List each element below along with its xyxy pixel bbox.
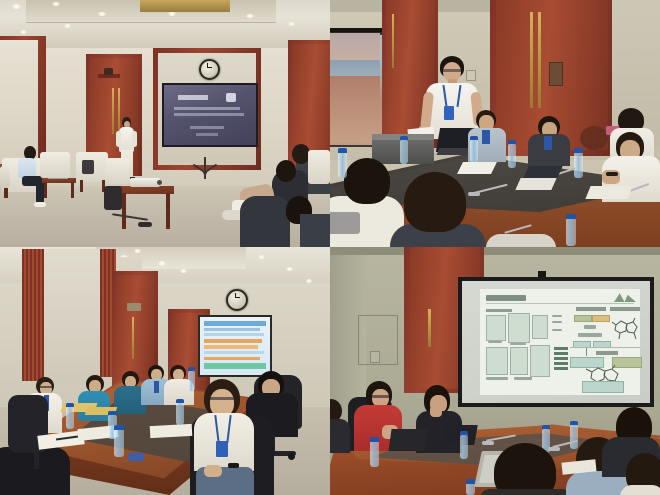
fragment-value: [578, 333, 602, 337]
diagram-box: [510, 347, 528, 375]
wall-switch[interactable]: [370, 351, 380, 363]
wall-recess-left-inner: [0, 40, 38, 164]
water-bottle[interactable]: [508, 144, 516, 168]
bottle-cap: [114, 425, 124, 430]
ceiling-light: [64, 24, 71, 28]
panelist-torso: [330, 419, 350, 453]
bottle-cap: [570, 421, 578, 425]
projector: [130, 178, 160, 187]
attendee-glasses: [40, 386, 52, 388]
foreground-attendee: [300, 214, 330, 247]
column-header-molecular-graph: [610, 307, 640, 311]
diagram-label: [514, 377, 532, 380]
bottle-cap: [508, 140, 516, 144]
attendee-lanyard: [544, 136, 552, 150]
attendee-head: [344, 158, 390, 204]
slide-row-highlight: [204, 357, 260, 360]
ceiling-light: [286, 267, 293, 271]
ceiling-light: [246, 14, 254, 18]
slide-date-text: [196, 133, 218, 136]
water-bottle[interactable]: [574, 152, 583, 178]
attendee-head: [494, 443, 556, 495]
attendee-shoe: [34, 202, 46, 207]
attendee-torso: [620, 485, 660, 495]
door-handle[interactable]: [530, 12, 533, 108]
badge: [444, 106, 454, 120]
slide-author-text: [190, 126, 224, 129]
chair-wheel: [288, 453, 295, 460]
photo-collage: Seminar room: a presenter in a white shi…: [0, 0, 660, 495]
water-bottle[interactable]: [566, 218, 576, 246]
caption-box: [582, 381, 624, 393]
bottle-cap: [400, 136, 408, 140]
diagram-label: [486, 377, 508, 380]
clock-hand: [207, 67, 212, 68]
panel-bottom-left: Attendees seated along a large wooden co…: [0, 247, 330, 495]
wall-clock: [199, 59, 220, 80]
bottle-cap: [66, 403, 74, 407]
badge: [216, 441, 228, 457]
ceiling-light: [12, 4, 21, 9]
notepad: [585, 186, 632, 199]
diagram-label: [488, 341, 502, 343]
slide-row: [204, 328, 260, 331]
ceiling-light: [158, 261, 166, 266]
wall-slat-panel: [22, 249, 44, 381]
slide-title: [486, 295, 526, 301]
attendee-torso: [18, 158, 36, 178]
microphone-base: [548, 447, 560, 451]
attendee-lanyard: [154, 381, 159, 393]
ceiling-light: [306, 279, 312, 283]
wristwatch: [606, 172, 618, 176]
door-handle[interactable]: [392, 14, 394, 68]
water-bottle[interactable]: [460, 435, 468, 459]
diagram-box: [530, 345, 550, 377]
panel-bottom-right: A large tripod projection screen display…: [330, 247, 660, 495]
slide-subheading: [486, 309, 512, 312]
notepad: [515, 178, 556, 190]
bottle-cap: [466, 479, 475, 484]
water-bottle[interactable]: [370, 441, 379, 467]
ceiling-light: [134, 249, 141, 253]
paper-sheet: [150, 424, 193, 438]
slide-logo: [226, 93, 236, 102]
column-header-integrate: [596, 351, 618, 355]
score-bar: [554, 362, 568, 365]
door-handle[interactable]: [428, 309, 431, 347]
panel-top-left: Seminar room: a presenter in a white shi…: [0, 0, 330, 247]
slide-row-highlight: [204, 345, 258, 349]
presenter-arm: [132, 131, 137, 147]
attendee-torso: [480, 489, 572, 495]
water-bottle[interactable]: [400, 140, 408, 164]
sofa-leg: [4, 188, 8, 198]
panelist-glasses: [372, 395, 389, 398]
armchair: [40, 152, 70, 178]
bottle-cap: [574, 148, 583, 153]
fragment-value: [584, 325, 596, 329]
projector-lens: [157, 180, 162, 185]
slide-title-text: [178, 95, 208, 100]
bottle-cap: [370, 437, 379, 442]
attendee-head: [404, 172, 466, 232]
bottle-cap: [460, 431, 468, 435]
door-sign: [127, 303, 141, 311]
door-handle[interactable]: [538, 12, 541, 108]
table-leg: [71, 182, 74, 198]
ceiling-light: [98, 12, 106, 16]
water-bottle[interactable]: [66, 407, 74, 429]
slide-title-underline: [486, 303, 634, 304]
ceiling-gold-inlay: [140, 0, 230, 12]
bottle-cap: [108, 411, 117, 415]
water-bottle[interactable]: [338, 152, 347, 178]
water-bottle[interactable]: [570, 425, 578, 449]
table-leg: [44, 182, 47, 198]
integrate-arrow: [586, 348, 587, 356]
slide-subtitle-text: [174, 113, 244, 116]
cup[interactable]: [128, 453, 144, 461]
laptop[interactable]: [388, 429, 427, 451]
water-bottle[interactable]: [470, 140, 478, 162]
attendee-head: [276, 160, 296, 182]
slide-subtitle-text: [174, 107, 240, 110]
slide-divider: [570, 347, 640, 348]
score-bar: [554, 367, 568, 370]
score-label: [552, 321, 562, 323]
slide-header-row: [204, 321, 266, 326]
microphone-base: [482, 441, 494, 445]
water-bottle[interactable]: [466, 483, 475, 495]
screen-roller-bar: [330, 28, 382, 32]
water-bottle[interactable]: [176, 403, 184, 425]
diagram-box: [532, 315, 548, 339]
slide-row: [204, 351, 264, 354]
bottle-cap: [542, 425, 550, 429]
attendee-lanyard: [482, 130, 490, 144]
ceiling-light: [180, 269, 187, 273]
score-label: [552, 315, 562, 317]
door-handle[interactable]: [132, 317, 134, 359]
chair-post: [34, 451, 39, 469]
diagram-box: [486, 347, 508, 375]
score-label: [552, 329, 562, 331]
door-sign: [549, 62, 563, 86]
diagram-box: [486, 315, 506, 341]
bottle-cap: [470, 136, 478, 140]
attendee-shin: [36, 182, 44, 204]
bottle-cap: [176, 399, 184, 403]
panelist-hand: [430, 405, 442, 417]
column-header-fragments: [576, 307, 606, 311]
table-leg: [122, 193, 126, 229]
clock-hand: [235, 297, 240, 298]
wristwatch: [228, 463, 239, 468]
bottle-cap: [188, 367, 195, 371]
wall-speaker: [580, 126, 608, 150]
table-leg: [166, 193, 170, 229]
ceiling-light: [20, 30, 27, 34]
door-handle[interactable]: [118, 88, 120, 134]
panel-top-right: A young man in a white T-shirt with a bl…: [330, 0, 660, 247]
presenter-glasses: [443, 69, 461, 72]
shelf-ornament: [104, 68, 113, 75]
armchair-leg: [80, 180, 83, 192]
notepad: [457, 162, 497, 174]
ceiling-light: [52, 2, 60, 6]
wall-switch[interactable]: [466, 70, 476, 81]
molecule-structure-icon: [608, 315, 640, 343]
attendee-hand: [204, 465, 222, 477]
ceiling-light: [168, 12, 176, 16]
bottle-cap: [566, 214, 576, 219]
diagram-box: [508, 313, 530, 343]
score-bar: [554, 357, 568, 360]
wall-panel: [44, 249, 100, 383]
water-bottle[interactable]: [114, 429, 124, 457]
foreground-attendee: [486, 234, 556, 247]
armchair: [106, 158, 130, 184]
shirt-graphic: [330, 212, 360, 234]
water-bottle[interactable]: [188, 371, 195, 391]
wall-clock: [226, 289, 248, 311]
slide-row-highlight: [204, 339, 262, 343]
diagram-label: [510, 343, 526, 345]
screen-tripod: [204, 157, 206, 179]
upper-wall-band: [330, 247, 660, 255]
attendee-glasses: [210, 397, 234, 400]
armchair: [308, 150, 330, 184]
slide-row: [204, 333, 264, 336]
score-bar: [554, 352, 568, 355]
microphone-base: [468, 192, 480, 196]
cable: [138, 222, 152, 227]
screen-ground: [330, 76, 380, 143]
side-object: [82, 160, 94, 174]
door-handle[interactable]: [112, 88, 114, 134]
bag: [104, 186, 122, 210]
sofa-armrest: [0, 166, 10, 188]
tablet-device[interactable]: [523, 166, 562, 178]
fragment-chip: [574, 315, 592, 322]
slide-row-green: [204, 363, 266, 369]
ceiling-light: [288, 22, 295, 26]
score-bar: [554, 347, 568, 350]
bottle-cap: [338, 148, 347, 153]
ceiling-light: [258, 255, 265, 259]
foreground-attendee: [240, 196, 290, 247]
presenter-arm: [116, 131, 121, 147]
